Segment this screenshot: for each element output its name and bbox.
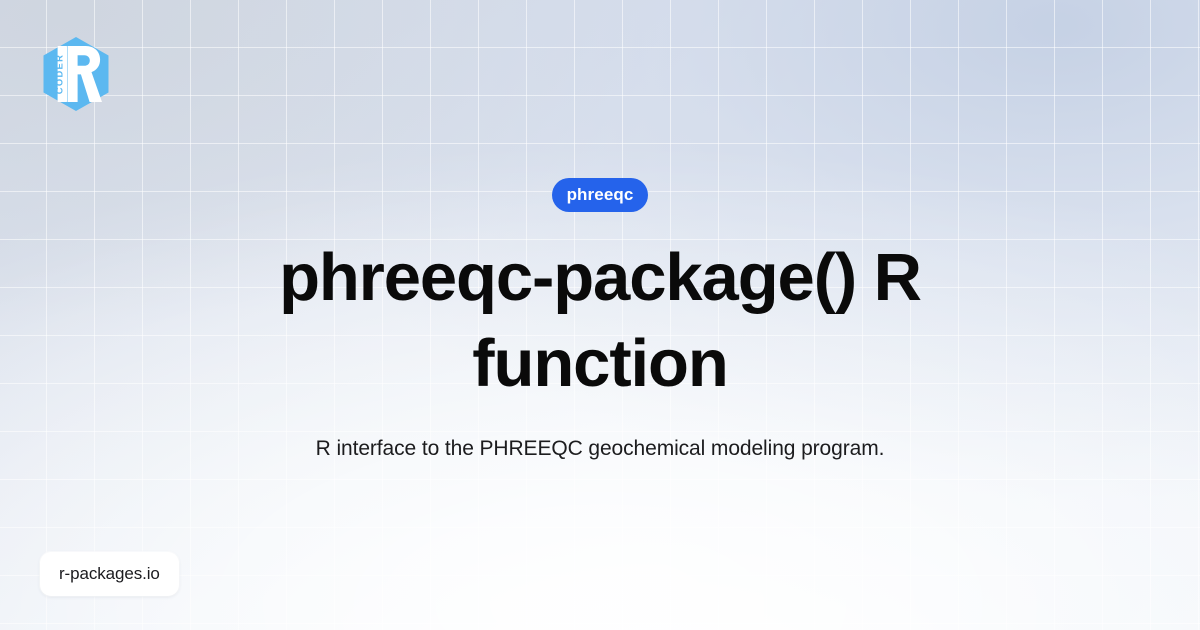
page-title: phreeqc-package() R function xyxy=(240,235,960,407)
package-badge[interactable]: phreeqc xyxy=(552,178,649,212)
og-card: CODER phreeqc phreeqc-package() R functi… xyxy=(0,0,1200,630)
page-subtitle: R interface to the PHREEQC geochemical m… xyxy=(316,434,885,463)
r-coder-logo[interactable]: CODER xyxy=(42,36,110,112)
site-label-chip[interactable]: r-packages.io xyxy=(40,552,179,596)
coder-wordmark-text: CODER xyxy=(53,54,64,94)
hexagon-logo-icon: CODER xyxy=(42,36,110,112)
hero-content: phreeqc phreeqc-package() R function R i… xyxy=(0,178,1200,463)
